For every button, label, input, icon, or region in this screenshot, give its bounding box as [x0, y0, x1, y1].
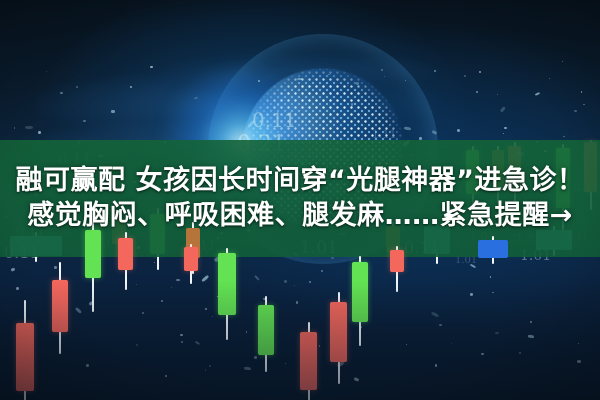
- banner-image: 0.110.210.110.110.111.011.010.411.013.11…: [0, 0, 600, 400]
- candle-body: [300, 332, 317, 390]
- headline-block: 融可赢配 女孩因长时间穿“光腿神器”进急诊！ 感觉胸闷、呼吸困难、腿发麻……紧急…: [0, 140, 600, 257]
- headline-line-1: 融可赢配 女孩因长时间穿“光腿神器”进急诊！: [16, 166, 585, 196]
- headline-line-2: 感觉胸闷、呼吸困难、腿发麻……紧急提醒→: [27, 201, 573, 231]
- candle-body: [352, 262, 368, 322]
- candle-body: [330, 302, 347, 362]
- candle-body: [218, 253, 236, 315]
- candle-body: [258, 305, 274, 355]
- candle-body: [16, 323, 34, 391]
- candle-body: [52, 280, 68, 332]
